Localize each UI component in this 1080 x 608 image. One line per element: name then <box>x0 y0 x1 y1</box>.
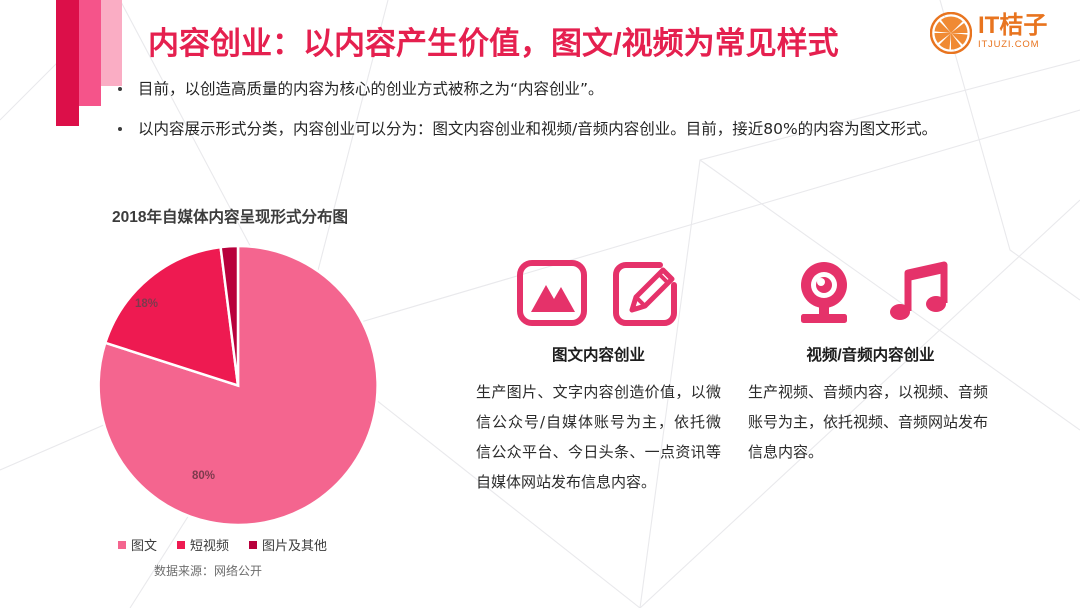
legend-item-image-other: 图片及其他 <box>249 535 327 554</box>
bullet-item: 以内容展示形式分类，内容创业可以分为：图文内容创业和视频/音频内容创业。目前，接… <box>118 116 998 143</box>
pencil-edit-icon <box>610 257 682 329</box>
chart-source-note: 数据来源：网络公开 <box>154 562 262 579</box>
slide-canvas: 内容创业：以内容产生价值，图文/视频为常见样式 IT桔子 ITJUZI.COM <box>0 0 1080 608</box>
column-body-text: 生产图片、文字内容创造价值，以微信公众号/自媒体账号为主，依托微信公众平台、今日… <box>476 377 721 497</box>
column-graphic-text: 图文内容创业 生产图片、文字内容创造价值，以微信公众号/自媒体账号为主，依托微信… <box>476 237 721 497</box>
column-heading: 图文内容创业 <box>476 343 721 365</box>
logo-text: IT桔子 ITJUZI.COM <box>978 13 1047 51</box>
decor-bar-dark <box>56 0 79 126</box>
column-icon-group <box>748 237 993 329</box>
pie-value-label-graphic-text: 80% <box>192 470 215 482</box>
legend-swatch-image-other <box>249 541 257 549</box>
orange-slice-icon <box>930 12 972 54</box>
pie-chart <box>95 243 385 528</box>
legend-swatch-short-video <box>177 541 185 549</box>
legend-swatch-graphic-text <box>118 541 126 549</box>
bullet-text: 目前，以创造高质量的内容为核心的创业方式被称之为“内容创业”。 <box>138 76 604 103</box>
image-icon <box>516 257 588 329</box>
logo-brand-name: IT桔子 <box>978 13 1047 39</box>
bullet-dot-icon <box>118 127 122 131</box>
column-heading: 视频/音频内容创业 <box>748 343 993 365</box>
pie-value-label-short-video: 18% <box>135 298 158 310</box>
legend-item-graphic-text: 图文 <box>118 535 157 554</box>
decor-bar-light <box>101 0 122 86</box>
bullet-list: 目前，以创造高质量的内容为核心的创业方式被称之为“内容创业”。 以内容展示形式分… <box>118 76 998 156</box>
bullet-dot-icon <box>118 87 122 91</box>
decor-bar-mid <box>79 0 101 106</box>
column-video-audio: 视频/音频内容创业 生产视频、音频内容，以视频、音频账号为主，依托视频、音频网站… <box>748 237 993 467</box>
column-icon-group <box>476 237 721 329</box>
chart-title: 2018年自媒体内容呈现形式分布图 <box>112 205 348 227</box>
bullet-item: 目前，以创造高质量的内容为核心的创业方式被称之为“内容创业”。 <box>118 76 998 103</box>
music-note-icon <box>882 257 954 329</box>
brand-logo: IT桔子 ITJUZI.COM <box>930 10 1062 60</box>
logo-domain: ITJUZI.COM <box>978 39 1047 51</box>
bullet-text: 以内容展示形式分类，内容创业可以分为：图文内容创业和视频/音频内容创业。目前，接… <box>138 116 937 143</box>
legend-label: 图文 <box>131 535 157 554</box>
legend-item-short-video: 短视频 <box>177 535 229 554</box>
chart-legend: 图文 短视频 图片及其他 <box>118 535 327 554</box>
legend-label: 图片及其他 <box>262 535 327 554</box>
column-body-text: 生产视频、音频内容，以视频、音频账号为主，依托视频、音频网站发布信息内容。 <box>748 377 993 467</box>
page-title: 内容创业：以内容产生价值，图文/视频为常见样式 <box>148 18 839 63</box>
legend-label: 短视频 <box>190 535 229 554</box>
webcam-icon <box>788 257 860 329</box>
